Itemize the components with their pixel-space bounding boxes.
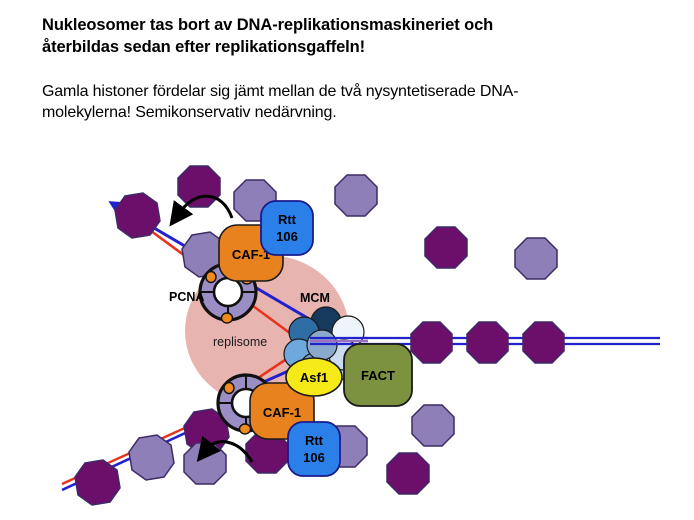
nucleosome-new bbox=[184, 443, 226, 484]
nucleosome-old bbox=[523, 322, 564, 363]
slide-body-line-2: molekylerna! Semikonservativ nedärvning. bbox=[42, 102, 652, 124]
slide-body-line-1: Gamla histoner fördelar sig jämt mellan … bbox=[42, 81, 652, 103]
nucleosome-old bbox=[178, 166, 220, 207]
replisome-label: replisome bbox=[213, 335, 267, 349]
page-title-line-2: återbildas sedan efter replikationsgaffe… bbox=[42, 36, 652, 58]
rtt106-top-label-line1: Rtt bbox=[278, 212, 297, 227]
nucleosome-old bbox=[387, 453, 429, 494]
fact-complex[interactable]: FACT bbox=[344, 344, 412, 406]
rtt106-complex-top[interactable]: Rtt 106 bbox=[261, 201, 313, 255]
page-title-line-1: Nukleosomer tas bort av DNA-replikations… bbox=[42, 14, 652, 36]
rtt106-complex-bottom[interactable]: Rtt 106 bbox=[288, 422, 340, 476]
rtt106-top-label-line2: 106 bbox=[276, 229, 298, 244]
nucleosome-old bbox=[467, 322, 508, 363]
nucleosome-new bbox=[129, 435, 174, 480]
rtt106-bottom-label-line2: 106 bbox=[303, 450, 325, 465]
nucleosome-parental-right-group bbox=[411, 322, 564, 363]
nucleosome-old bbox=[75, 460, 120, 505]
parental-duplex-over-mcm bbox=[310, 338, 368, 344]
pcna-label: PCNA bbox=[169, 290, 204, 304]
caf1-bottom-label: CAF-1 bbox=[263, 405, 301, 420]
nucleosome-old bbox=[425, 227, 467, 268]
replication-fork-diagram: PCNA CAF-1 Rtt 106 CAF-1 Rtt 106 bbox=[0, 150, 694, 520]
mcm-label: MCM bbox=[300, 291, 330, 305]
slide-body-text: Gamla histoner fördelar sig jämt mellan … bbox=[42, 59, 652, 124]
fact-label: FACT bbox=[361, 368, 395, 383]
nucleosome-new bbox=[335, 175, 377, 216]
nucleosome-new bbox=[515, 238, 557, 279]
asf1-chaperone[interactable]: Asf1 bbox=[286, 358, 342, 396]
nucleosome-old bbox=[115, 193, 160, 238]
slide-text-block: Nukleosomer tas bort av DNA-replikations… bbox=[42, 14, 652, 124]
page-title: Nukleosomer tas bort av DNA-replikations… bbox=[42, 14, 652, 59]
nucleosome-old bbox=[411, 322, 452, 363]
asf1-label: Asf1 bbox=[300, 370, 328, 385]
rtt106-bottom-label-line1: Rtt bbox=[305, 433, 324, 448]
nucleosome-new bbox=[412, 405, 454, 446]
